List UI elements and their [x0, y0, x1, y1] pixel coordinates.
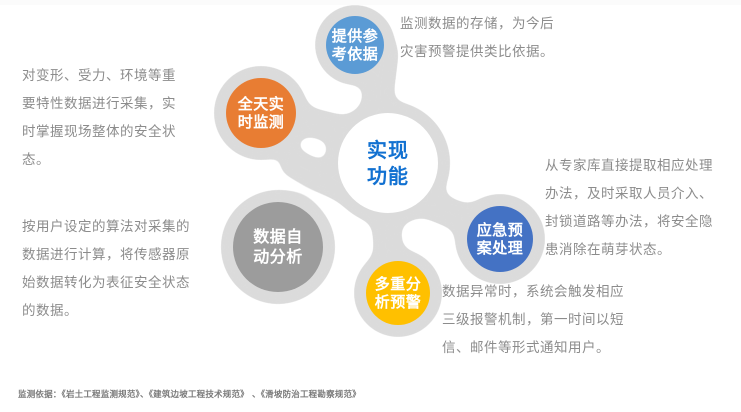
footer-standards-note: 监测依据：《岩土工程监测规范》、《建筑边坡工程技术规范》 、《滑坡防治工程勘察规… [18, 389, 361, 401]
node-emergency-plan[interactable] [467, 206, 533, 272]
node-all-day-monitoring[interactable] [226, 78, 296, 148]
infographic-canvas: 实现 功能 提供参 考依据 全天实 时监测 数据自 动分析 多重分 析预警 应急… [0, 0, 741, 412]
description-emergency-plan: 从专家库直接提取相应处理 办法，及时采取人员介入、 封锁道路等办法，将安全隐 患… [545, 152, 741, 264]
description-auto-data-analysis: 按用户设定的算法对采集的 数据进行计算，将传感器原 始数据转化为表征安全状态 的… [22, 213, 237, 325]
description-all-day-monitoring: 对变形、受力、环境等重 要特性数据进行采集，实 时掌握现场整体的安全状 态。 [22, 62, 222, 174]
description-multi-level-alarm: 数据异常时，系统会触发相应 三级报警机制，第一时间以短 信、邮件等形式通知用户。 [442, 278, 737, 362]
center-node-label: 实现 功能 [367, 137, 409, 189]
description-reference-basis: 监测数据的存储，为今后 灾害预警提供类比依据。 [400, 10, 670, 66]
node-reference-basis[interactable] [326, 16, 384, 74]
node-auto-data-analysis[interactable] [233, 202, 323, 292]
node-multi-level-alarm[interactable] [366, 261, 430, 325]
